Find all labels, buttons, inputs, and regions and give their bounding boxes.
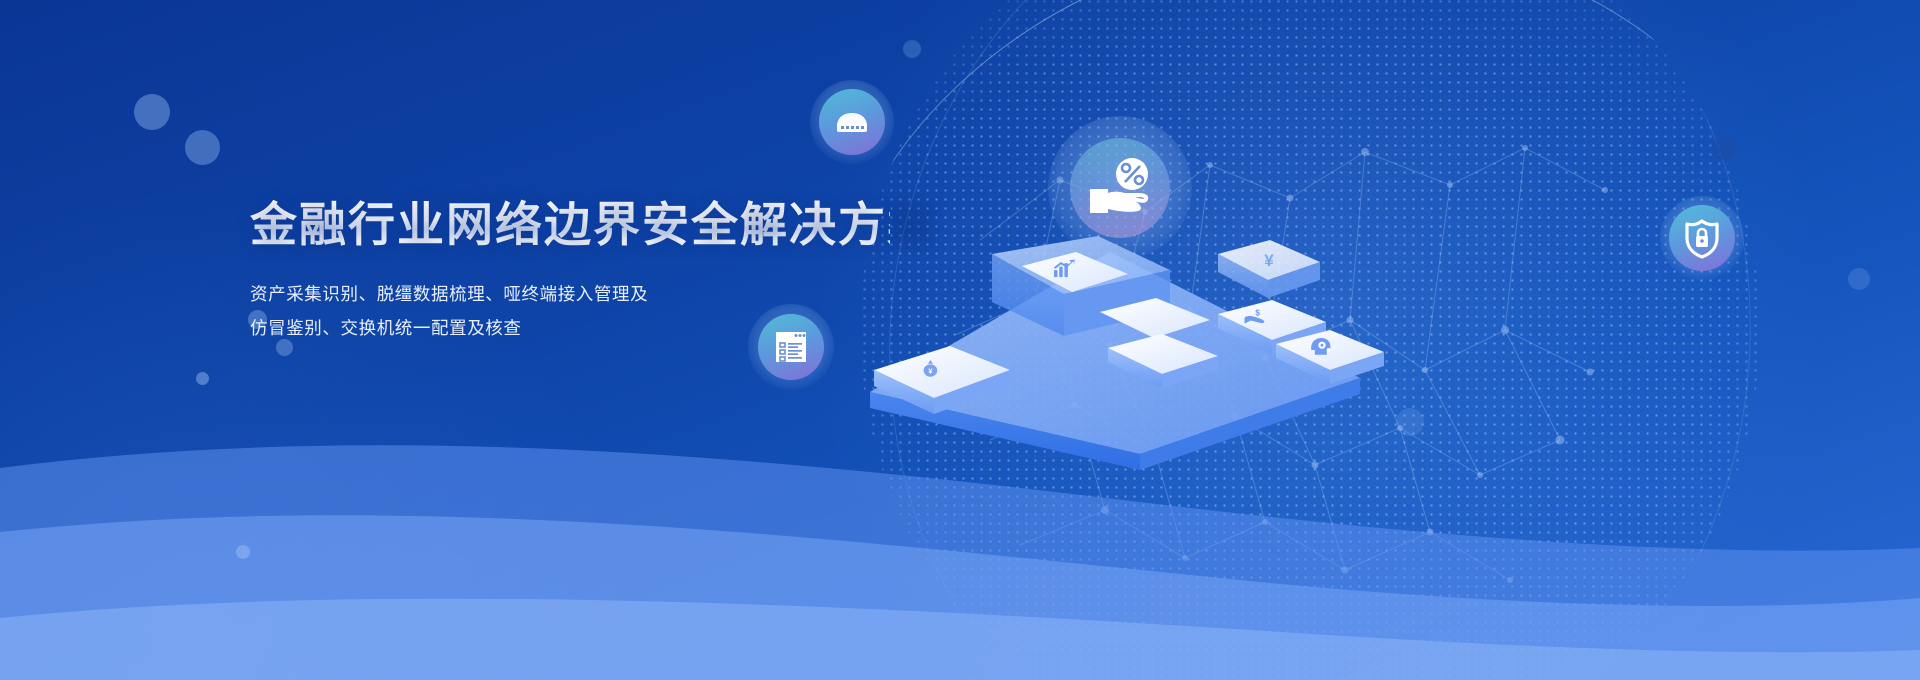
svg-text:¥: ¥ (1264, 251, 1274, 270)
bubble-5 (196, 372, 209, 385)
finance-security-banner: ¥ (0, 0, 1920, 680)
bubble-1 (134, 94, 170, 130)
page-title: 金融行业网络边界安全解决方案 (250, 196, 890, 253)
tile-yen: ¥ (1218, 240, 1320, 298)
bubble-8 (1848, 268, 1870, 290)
hand-percent-icon (1048, 116, 1192, 260)
svg-text:$: $ (1255, 309, 1260, 318)
document-glyph (770, 326, 812, 368)
banner-copy: 金融行业网络边界安全解决方案 资产采集识别、脱缰数据梳理、哑终端接入管理及 仿冒… (250, 196, 890, 346)
shield-lock-icon (1660, 196, 1744, 280)
network-switch-icon (810, 80, 894, 164)
bubble-9 (1396, 408, 1424, 436)
subtitle-line-1: 资产采集识别、脱缰数据梳理、哑终端接入管理及 (250, 277, 890, 311)
bubble-10 (236, 545, 250, 559)
bubble-6 (903, 40, 921, 58)
bubble-2 (185, 130, 220, 165)
bubble-7 (1712, 136, 1736, 160)
percent-glyph (1082, 153, 1158, 223)
switch-glyph (832, 102, 872, 142)
shield-glyph (1681, 216, 1723, 260)
